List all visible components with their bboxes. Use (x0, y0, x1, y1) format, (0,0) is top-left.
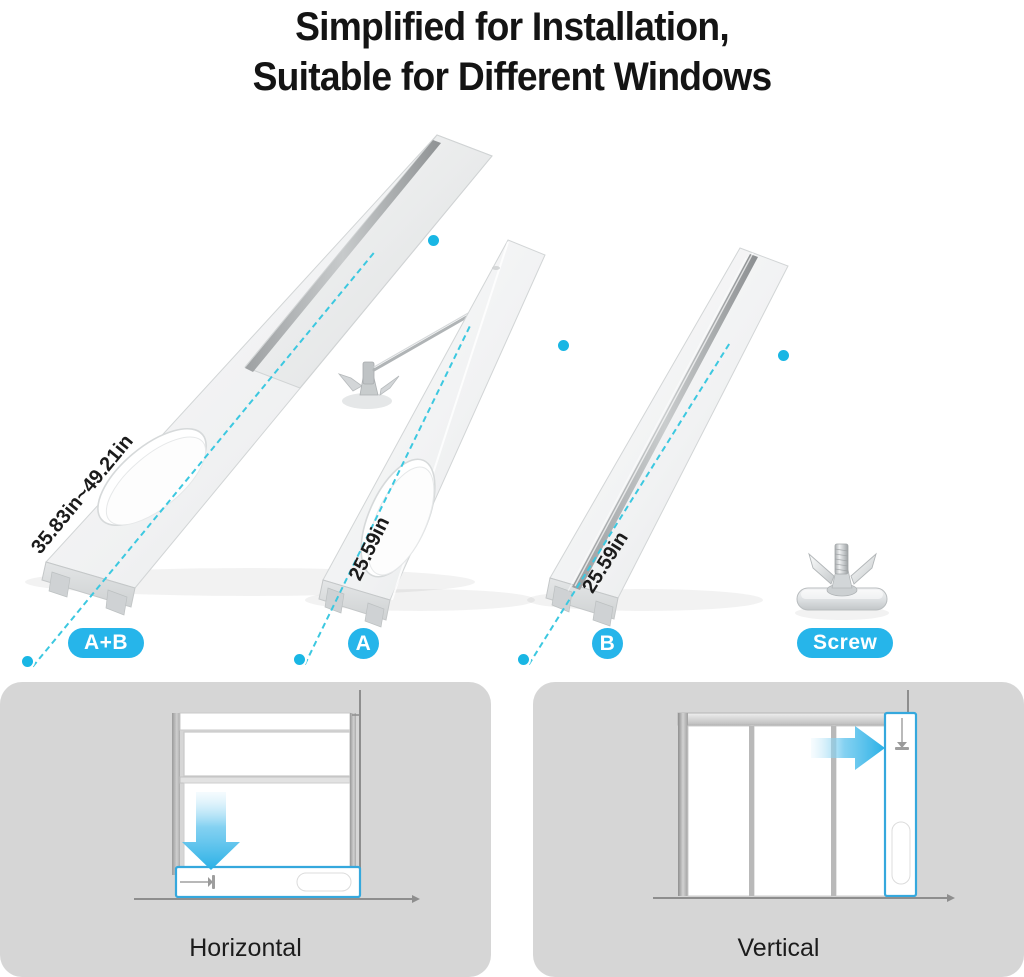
title-line-1: Simplified for Installation, (36, 2, 988, 52)
badge-part-a[interactable]: A (348, 628, 379, 659)
scene-vertical[interactable]: Vertical (533, 682, 1024, 977)
scene-horizontal[interactable]: Horizontal (0, 682, 491, 977)
installation-scenes: Horizontal (0, 682, 1024, 977)
wing-screw-icon (775, 530, 905, 630)
parts-showcase: 35.83in~49.21in (0, 110, 1024, 670)
vertical-window-diagram (533, 682, 1024, 932)
horizontal-window-diagram (0, 682, 491, 932)
scene-horizontal-illustration (0, 682, 491, 977)
part-b[interactable]: 25.59in (500, 240, 800, 630)
title-line-2: Suitable for Different Windows (36, 52, 988, 102)
scene-vertical-illustration (533, 682, 1024, 977)
scene-vertical-caption: Vertical (533, 934, 1024, 963)
badge-part-ab[interactable]: A+B (68, 628, 144, 658)
dimension-dot-b-end (778, 350, 789, 361)
badge-part-b[interactable]: B (592, 628, 623, 659)
part-b-illustration (500, 240, 800, 630)
page-title: Simplified for Installation, Suitable fo… (0, 0, 1024, 102)
part-badges: A+B A B Screw (0, 622, 1024, 668)
badge-part-screw[interactable]: Screw (797, 628, 893, 658)
part-screw[interactable] (775, 530, 905, 630)
scene-horizontal-caption: Horizontal (0, 934, 491, 963)
